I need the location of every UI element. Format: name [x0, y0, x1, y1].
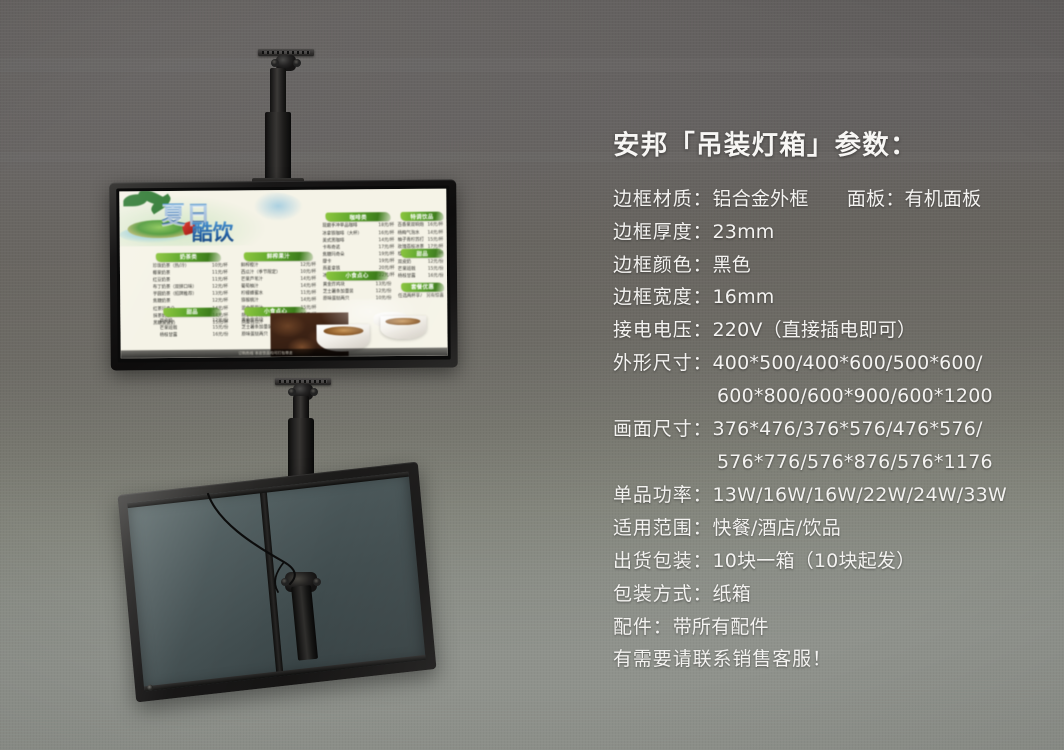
spec-value: 23mm — [713, 221, 775, 243]
spec-line-5: 外形尺寸：400*500/400*600/500*600/ — [613, 347, 1043, 380]
spec-line-0: 边框材质：铝合金外框 面板：有机面板 — [613, 183, 1043, 216]
swivel-knob-right — [313, 578, 321, 586]
spec-line-10: 适用范围：快餐/酒店/饮品 — [613, 512, 1043, 545]
spec-line-7: 画面尺寸：376*476/376*576/476*576/ — [613, 413, 1043, 446]
spec-label: 包装方式： — [613, 583, 713, 605]
spec-label: 边框宽度： — [613, 286, 713, 308]
spec-line-11: 出货包装：10块一箱（10块起发） — [613, 545, 1043, 578]
product-promo-image: 夏日 酷饮 奶茶类 珍珠奶茶（热/冷）10元/杯椰果奶茶11元/杯红豆奶茶11元… — [0, 0, 1064, 750]
menu-category-banner: 小食点心 — [326, 271, 388, 281]
spec-label: 有需要请联系销售客服！ — [613, 648, 832, 670]
spec-value: 16mm — [713, 286, 775, 308]
menu-hero-title-line2: 酷饮 — [192, 217, 234, 247]
lightbox-menu-panel: 夏日 酷饮 奶茶类 珍珠奶茶（热/冷）10元/杯椰果奶茶11元/杯红豆奶茶11元… — [119, 189, 447, 359]
mount-plate-holes — [279, 380, 327, 383]
menu-item-price: 16元/份 — [424, 273, 444, 280]
ceiling-mount-plate-upper — [258, 49, 314, 59]
mount-pole-upper-section — [270, 68, 286, 116]
menu-item-name: 杨枝甘露 — [398, 273, 416, 280]
menu-category-banner: 咖啡类 — [325, 212, 390, 222]
menu-poster: 夏日 酷饮 奶茶类 珍珠奶茶（热/冷）10元/杯椰果奶茶11元/杯红豆奶茶11元… — [119, 189, 447, 359]
spec-line-2: 边框颜色：黑色 — [613, 249, 1043, 282]
spec-label: 边框厚度： — [613, 221, 713, 243]
spec-title: 安邦「吊装灯箱」参数： — [613, 128, 1043, 164]
menu-item-list: 双皮奶12元/份芒果班戟15元/份杨枝甘露16元/份 — [398, 259, 444, 281]
spec-panel: 安邦「吊装灯箱」参数： 边框材质：铝合金外框 面板：有机面板边框厚度：23mm边… — [613, 128, 1043, 676]
spec-value: 快餐/酒店/饮品 — [713, 517, 841, 539]
menu-category-banner: 套餐优惠 — [401, 282, 444, 291]
menu-item-name: 芋圆奶茶（招牌推荐） — [153, 291, 197, 299]
mount-pole-lower-section — [265, 112, 291, 184]
spec-line-1: 边框厚度：23mm — [613, 216, 1043, 249]
menu-item-row: 杨枝甘露16元/份 — [160, 332, 229, 340]
menu-category-banner: 奶茶类 — [156, 252, 221, 262]
menu-item-name: 美式黑咖啡 — [322, 237, 344, 244]
ceiling-mount-plate-lower — [275, 378, 331, 388]
spec-value: 铝合金外框 面板：有机面板 — [713, 188, 982, 210]
spec-line-3: 边框宽度：16mm — [613, 281, 1043, 314]
spec-value: 400*500/400*600/500*600/ — [713, 352, 983, 374]
spec-line-14: 有需要请联系销售客服！ — [613, 643, 1043, 676]
spec-label: 接电电压： — [613, 319, 713, 341]
spec-label: 边框材质： — [613, 188, 713, 210]
menu-category-banner: 甜品 — [401, 249, 444, 258]
swivel-knob-left — [288, 388, 296, 396]
spec-line-list: 边框材质：铝合金外框 面板：有机面板边框厚度：23mm边框颜色：黑色边框宽度：1… — [613, 183, 1043, 677]
spec-label: 画面尺寸： — [613, 418, 713, 440]
spec-value: 220V（直接插电即可） — [713, 319, 917, 341]
menu-item-price: 16元/份 — [209, 332, 229, 339]
menu-item-list: 双皮奶12元/份芒果班戟15元/份杨枝甘露16元/份 — [160, 317, 229, 339]
spec-line-8: 576*776/576*876/576*1176 — [613, 446, 1043, 479]
swivel-knob-left — [271, 59, 279, 67]
spec-line-4: 接电电压：220V（直接插电即可） — [613, 314, 1043, 347]
spec-label: 单品功率： — [613, 484, 713, 506]
swivel-knob-right — [310, 388, 318, 396]
spec-value: 纸箱 — [713, 583, 751, 605]
spec-label: 边框颜色： — [613, 254, 713, 276]
menu-footer-note: 订购热线 本店饮品均可打包带走 — [238, 351, 293, 356]
spec-value: 13W/16W/16W/22W/24W/33W — [713, 484, 1007, 506]
spec-value: 376*476/376*576/476*576/ — [713, 418, 983, 440]
menu-category-banner: 鲜榨果汁 — [244, 252, 313, 262]
menu-item-name: 芒果芦苇汁 — [241, 276, 263, 283]
spec-label: 配件： — [613, 616, 673, 638]
menu-item-row: 杨枝甘露16元/份 — [398, 273, 444, 281]
menu-item-name: 珍珠奶茶（热/冷） — [153, 263, 190, 270]
spec-value: 带所有配件 — [673, 616, 769, 638]
spec-line-6: 600*800/600*900/600*1200 — [613, 380, 1043, 413]
spec-value: 10块一箱（10块起发） — [713, 550, 916, 572]
menu-item-name: 杨枝甘露 — [160, 332, 178, 339]
menu-hero-artwork: 夏日 酷饮 — [119, 190, 309, 247]
spec-line-13: 配件：带所有配件 — [613, 611, 1043, 644]
menu-item-name: 焦糖玛奇朵 — [323, 251, 345, 258]
menu-item-name: 原味蛋挞两只 — [241, 331, 267, 338]
spec-label: 出货包装： — [613, 550, 713, 572]
menu-category-banner: 甜品 — [163, 307, 222, 317]
lightbox-rear-unit — [118, 462, 437, 703]
menu-category-banner: 特调饮品 — [401, 212, 444, 221]
mount-plate-holes — [262, 51, 310, 54]
menu-item-name: 柠檬蜂蜜水 — [241, 290, 263, 297]
spec-line-9: 单品功率：13W/16W/16W/22W/24W/33W — [613, 479, 1043, 512]
swivel-knob-left — [281, 578, 289, 586]
lightbox-front-unit: 夏日 酷饮 奶茶类 珍珠奶茶（热/冷）10元/杯椰果奶茶11元/杯红豆奶茶11元… — [109, 179, 458, 370]
spec-label: 适用范围： — [613, 517, 713, 539]
spec-value: 黑色 — [713, 254, 751, 276]
spec-label: 外形尺寸： — [613, 352, 713, 374]
swivel-knob-right — [293, 59, 301, 67]
spec-value: 576*776/576*876/576*1176 — [717, 451, 993, 473]
spec-line-12: 包装方式：纸箱 — [613, 578, 1043, 611]
spec-value: 600*800/600*900/600*1200 — [717, 385, 993, 407]
menu-item-name: 摩卡 — [323, 259, 332, 266]
